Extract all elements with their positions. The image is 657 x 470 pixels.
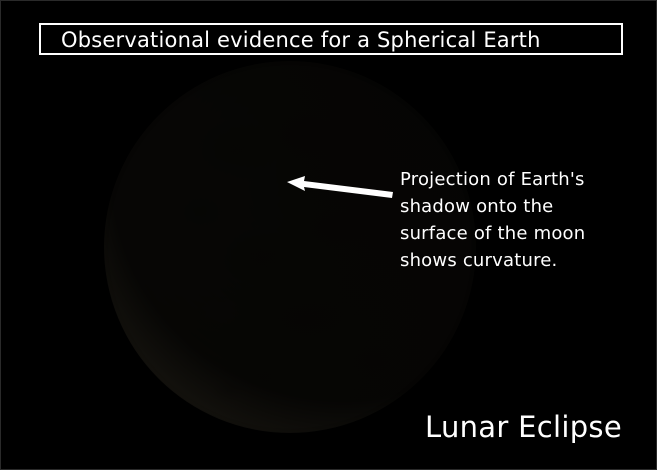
pointer-arrow-icon <box>281 169 401 209</box>
annotation-line-2: shadow onto the <box>400 193 650 220</box>
slide-canvas: Observational evidence for a Spherical E… <box>0 0 657 470</box>
annotation-callout: Projection of Earth's shadow onto the su… <box>400 166 650 274</box>
annotation-line-4: shows curvature. <box>400 247 650 274</box>
annotation-line-1: Projection of Earth's <box>400 166 650 193</box>
image-caption: Lunar Eclipse <box>425 409 622 445</box>
page-title: Observational evidence for a Spherical E… <box>61 25 621 55</box>
annotation-line-3: surface of the moon <box>400 220 650 247</box>
